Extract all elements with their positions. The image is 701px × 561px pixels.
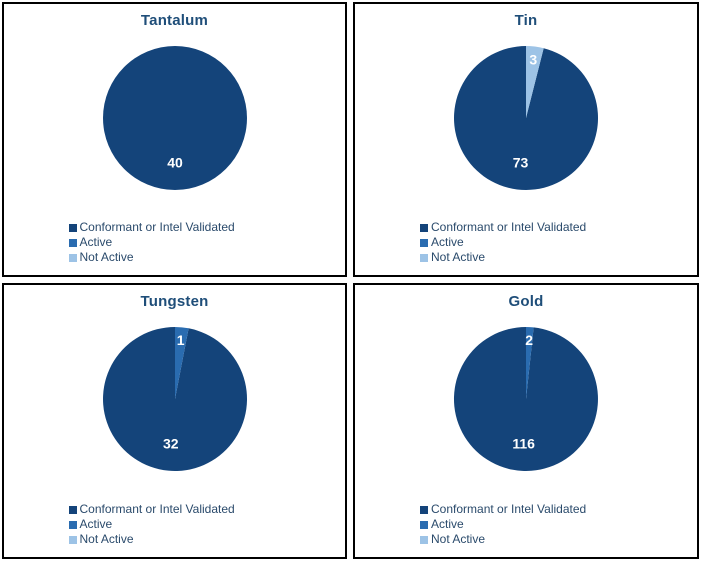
legend-swatch-icon [420, 536, 428, 544]
chart-title-gold: Gold [355, 293, 697, 311]
legend-tin: Conformant or Intel ValidatedActiveNot A… [355, 220, 697, 265]
panel-border: Tungsten 321 Conformant or Intel Validat… [2, 283, 347, 559]
legend-item-conformant[interactable]: Conformant or Intel Validated [69, 502, 281, 517]
pie-svg: 1162 [426, 323, 626, 483]
pie-chart-grid: Tantalum 40 Conformant or Intel Validate… [0, 0, 701, 561]
legend-item-not-active[interactable]: Not Active [69, 250, 281, 265]
pie-svg: 40 [75, 42, 275, 202]
legend-item-label: Active [80, 235, 113, 250]
legend-item-label: Active [431, 517, 464, 532]
legend-item-label: Not Active [431, 532, 485, 547]
legend-swatch-icon [420, 521, 428, 529]
legend-swatch-icon [69, 536, 77, 544]
pie-slice-value-label: 3 [529, 51, 537, 67]
legend-swatch-icon [420, 506, 428, 514]
pie-slice-value-label: 40 [167, 155, 183, 171]
legend-item-label: Not Active [431, 250, 485, 265]
legend-item-label: Conformant or Intel Validated [431, 220, 586, 235]
pie-slice-value-label: 32 [162, 435, 178, 451]
panel-border: Gold 1162 Conformant or Intel ValidatedA… [353, 283, 699, 559]
legend-item-label: Active [80, 517, 113, 532]
pie-slice-value-label: 116 [512, 436, 535, 452]
legend-swatch-icon [69, 254, 77, 262]
legend-swatch-icon [69, 224, 77, 232]
chart-title-tin: Tin [355, 12, 697, 30]
legend-item-not-active[interactable]: Not Active [420, 532, 632, 547]
legend-swatch-icon [420, 224, 428, 232]
legend-swatch-icon [420, 254, 428, 262]
pie-slice-value-label: 1 [176, 332, 184, 348]
legend-swatch-icon [69, 506, 77, 514]
legend-swatch-icon [69, 521, 77, 529]
legend-item-active[interactable]: Active [420, 235, 632, 250]
chart-title-tungsten: Tungsten [4, 293, 345, 311]
chart-panel-gold: Gold 1162 Conformant or Intel ValidatedA… [350, 280, 701, 561]
legend-item-label: Active [431, 235, 464, 250]
legend-item-label: Conformant or Intel Validated [431, 502, 586, 517]
legend-swatch-icon [69, 239, 77, 247]
legend-item-active[interactable]: Active [69, 235, 281, 250]
legend-item-conformant[interactable]: Conformant or Intel Validated [69, 220, 281, 235]
chart-title-tantalum: Tantalum [4, 12, 345, 30]
pie-slice-value-label: 73 [513, 154, 529, 170]
legend-gold: Conformant or Intel ValidatedActiveNot A… [355, 502, 697, 547]
pie-svg: 733 [426, 42, 626, 202]
pie-chart-tantalum[interactable]: 40 [4, 42, 345, 202]
legend-item-label: Not Active [80, 250, 134, 265]
legend-item-active[interactable]: Active [420, 517, 632, 532]
pie-slice-value-label: 2 [525, 332, 533, 348]
legend-item-conformant[interactable]: Conformant or Intel Validated [420, 220, 632, 235]
legend-item-label: Conformant or Intel Validated [80, 220, 235, 235]
legend-item-conformant[interactable]: Conformant or Intel Validated [420, 502, 632, 517]
chart-panel-tungsten: Tungsten 321 Conformant or Intel Validat… [0, 280, 350, 561]
pie-svg: 321 [75, 323, 275, 483]
chart-panel-tantalum: Tantalum 40 Conformant or Intel Validate… [0, 0, 350, 280]
legend-item-label: Not Active [80, 532, 134, 547]
legend-tungsten: Conformant or Intel ValidatedActiveNot A… [4, 502, 345, 547]
panel-border: Tin 733 Conformant or Intel ValidatedAct… [353, 2, 699, 277]
pie-chart-gold[interactable]: 1162 [355, 323, 697, 483]
legend-item-not-active[interactable]: Not Active [69, 532, 281, 547]
legend-tantalum: Conformant or Intel ValidatedActiveNot A… [4, 220, 345, 265]
chart-panel-tin: Tin 733 Conformant or Intel ValidatedAct… [350, 0, 701, 280]
pie-chart-tungsten[interactable]: 321 [4, 323, 345, 483]
legend-item-not-active[interactable]: Not Active [420, 250, 632, 265]
legend-item-label: Conformant or Intel Validated [80, 502, 235, 517]
pie-chart-tin[interactable]: 733 [355, 42, 697, 202]
legend-item-active[interactable]: Active [69, 517, 281, 532]
panel-border: Tantalum 40 Conformant or Intel Validate… [2, 2, 347, 277]
legend-swatch-icon [420, 239, 428, 247]
